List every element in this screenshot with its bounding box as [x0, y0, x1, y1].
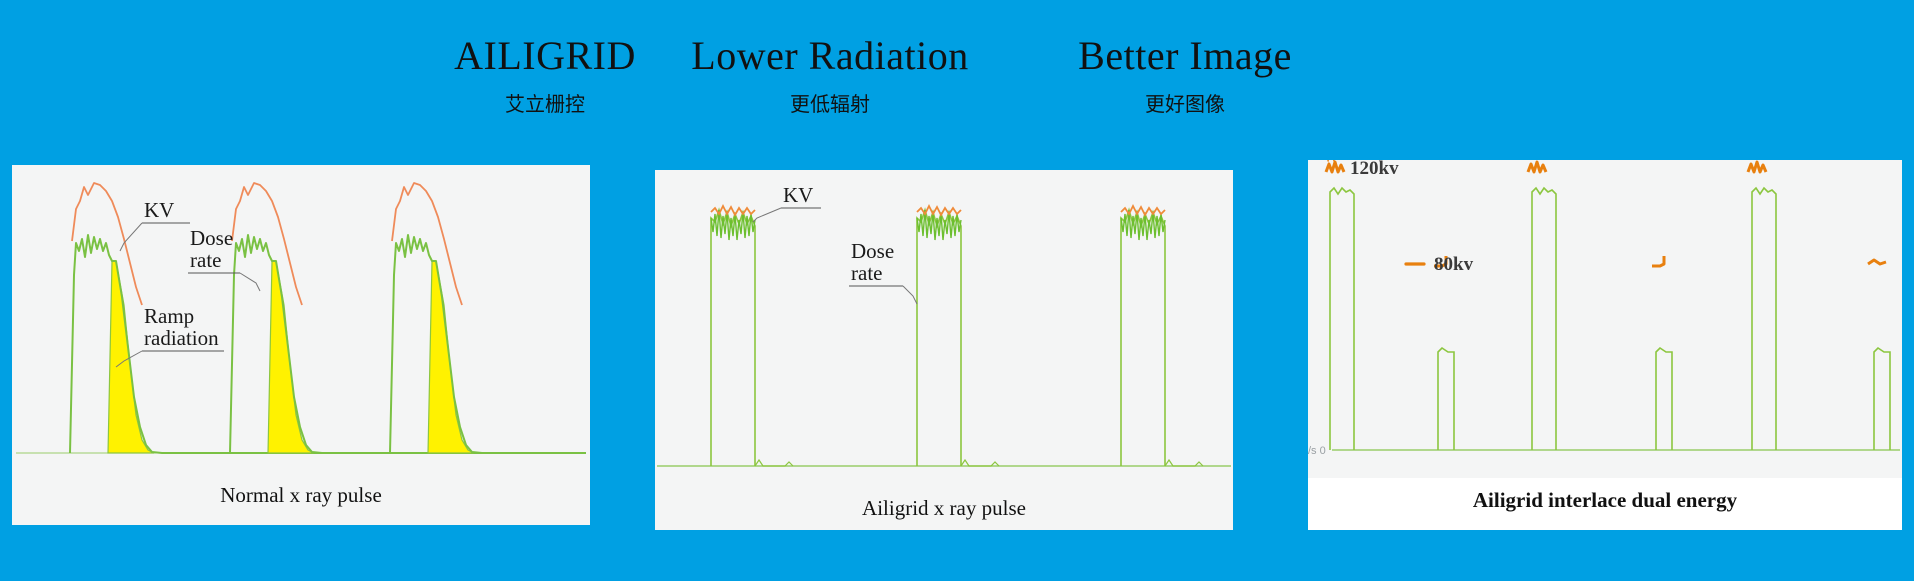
pulse-120kv: [1330, 188, 1354, 450]
dose-rate-pulse: [711, 210, 755, 466]
axis-label-left: /s 0: [1308, 445, 1326, 457]
pulse-group-2: [917, 206, 999, 466]
annotation-dose-line2: rate: [190, 248, 221, 272]
kv-marker-80-2: [1652, 256, 1664, 266]
pulse-80kv: [1656, 348, 1672, 450]
legend-label-80kv: 80kv: [1434, 254, 1474, 275]
pulse-80kv: [1874, 348, 1890, 450]
header-title-cn: 艾立栅控: [430, 90, 660, 118]
header-group-brand: AILIGRID 艾立栅控: [430, 32, 660, 118]
tail-blip: [755, 460, 793, 466]
ailigrid-pulse-svg: KV Dose rate: [655, 170, 1233, 488]
ramp-radiation-area: [428, 261, 474, 453]
annotation-dose-line2: rate: [851, 261, 882, 285]
header-group-better-image: Better Image 更好图像: [1035, 32, 1335, 118]
legend-80kv: 80kv: [1406, 254, 1474, 275]
pulse-80kv-1: [1438, 348, 1454, 450]
tail-blip: [961, 460, 999, 466]
header-title-cn: 更好图像: [1035, 90, 1335, 118]
ramp-radiation-area: [268, 261, 314, 453]
annotation-kv-label: KV: [144, 198, 174, 222]
annotation-ramp-line1: Ramp: [144, 304, 194, 328]
panel-ailigrid-x-ray-pulse: KV Dose rate Ailigrid x ray pulse: [655, 170, 1233, 530]
chart-normal-x-ray-pulse: KV Dose rate Ramp radiation: [12, 165, 590, 473]
panel-caption-ailigrid: Ailigrid x ray pulse: [655, 488, 1233, 530]
annotation-dose-rate: Dose rate: [849, 239, 917, 304]
kv-marker-80-3: [1868, 260, 1886, 264]
dose-rate-trace: [390, 235, 586, 453]
pulse-120kv: [1532, 188, 1556, 450]
pulse-group-3: [1121, 206, 1203, 466]
legend-label-120kv: 120kv: [1350, 160, 1399, 179]
orange-marker-icon: [1326, 162, 1344, 172]
dual-energy-svg: /s 0: [1308, 160, 1902, 478]
pulse-80kv-2: [1656, 348, 1672, 450]
normal-pulse-svg: KV Dose rate Ramp radiation: [12, 165, 590, 473]
orange-marker-icon: [1748, 162, 1766, 172]
kv-marker-120-3: [1748, 162, 1766, 172]
pulse-120kv-3: [1752, 188, 1776, 450]
tail-blip: [1165, 460, 1203, 466]
pulse-group-1: [711, 206, 793, 466]
annotation-kv: KV: [120, 198, 190, 251]
annotation-ramp-radiation: Ramp radiation: [116, 304, 224, 367]
orange-marker-icon: [1868, 260, 1886, 264]
dose-rate-pulse: [917, 210, 961, 466]
annotation-dose-rate: Dose rate: [188, 226, 260, 291]
annotation-kv: KV: [753, 183, 821, 222]
header-title-en: AILIGRID: [430, 32, 660, 80]
panel-ailigrid-interlace-dual-energy: /s 0: [1308, 160, 1902, 530]
header-title-cn: 更低辐射: [660, 90, 1000, 118]
header-title-en: Better Image: [1035, 32, 1335, 80]
header-banner: AILIGRID 艾立栅控 Lower Radiation 更低辐射 Bette…: [0, 0, 1914, 150]
pulse-120kv-1: [1330, 188, 1354, 450]
pulse-80kv: [1438, 348, 1454, 450]
annotation-dose-line1: Dose: [190, 226, 233, 250]
annotation-leader-line: [240, 273, 260, 291]
annotation-dose-line1: Dose: [851, 239, 894, 263]
orange-marker-icon: [1528, 162, 1546, 172]
kv-marker-120-1: [1326, 162, 1344, 172]
header-title-en: Lower Radiation: [660, 32, 1000, 80]
panel-caption-dual-energy: Ailigrid interlace dual energy: [1308, 478, 1902, 530]
chart-ailigrid-x-ray-pulse: KV Dose rate: [655, 170, 1233, 488]
annotation-ramp-line2: radiation: [144, 326, 219, 350]
pulse-80kv-3: [1874, 348, 1890, 450]
pulse-group-2: [230, 183, 586, 453]
annotation-leader-line: [753, 208, 781, 222]
pulse-120kv-2: [1532, 188, 1556, 450]
panel-caption-normal: Normal x ray pulse: [12, 473, 590, 525]
dose-rate-pulse: [1121, 210, 1165, 466]
orange-marker-icon: [1652, 256, 1664, 266]
header-group-lower-radiation: Lower Radiation 更低辐射: [660, 32, 1000, 118]
panel-normal-x-ray-pulse: KV Dose rate Ramp radiation Normal x ray…: [12, 165, 590, 525]
annotation-leader-line: [903, 286, 917, 304]
chart-interlace-dual-energy: /s 0: [1308, 160, 1902, 478]
kv-marker-120-2: [1528, 162, 1546, 172]
pulse-group-3: [390, 183, 586, 453]
pulse-120kv: [1752, 188, 1776, 450]
annotation-kv-label: KV: [783, 183, 813, 207]
